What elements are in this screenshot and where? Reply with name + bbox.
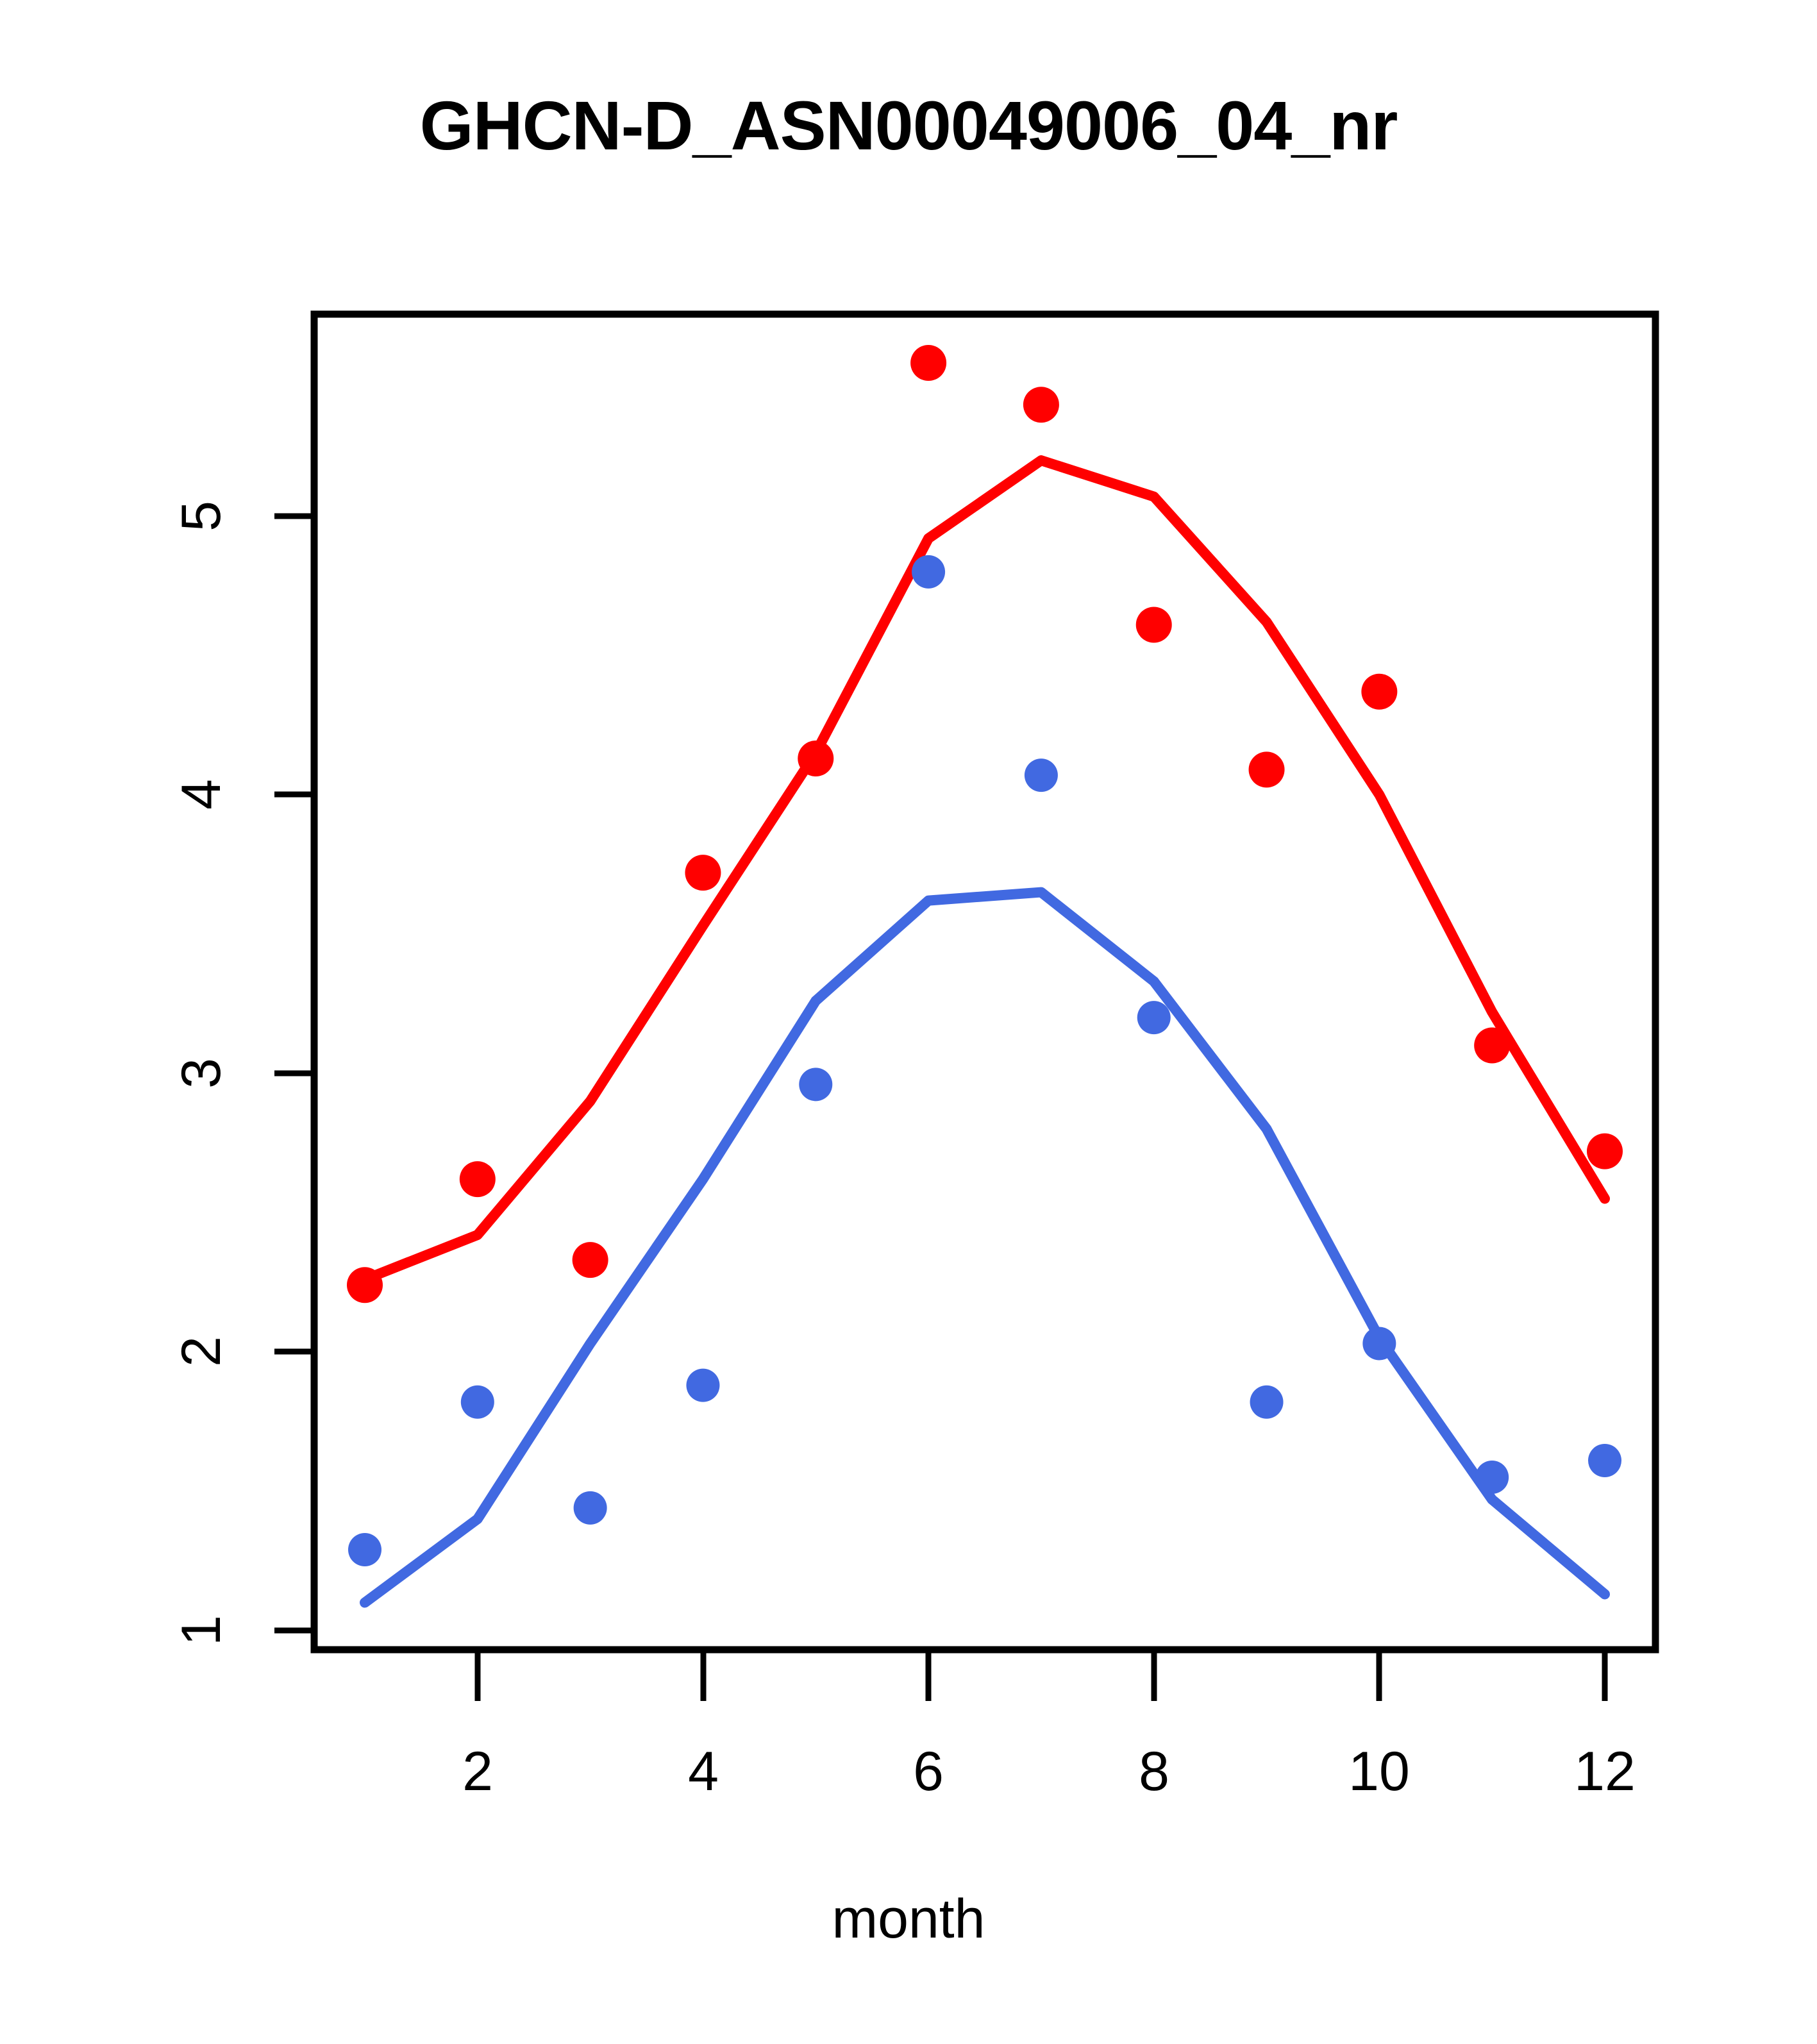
x-tick-label-8: 8 <box>1090 1744 1218 1799</box>
data-point <box>1587 1134 1623 1169</box>
x-tick-label-12: 12 <box>1541 1744 1669 1799</box>
data-point <box>348 1533 381 1566</box>
data-point <box>910 345 946 381</box>
data-point <box>347 1267 383 1303</box>
data-point <box>1250 1386 1284 1419</box>
data-point <box>1137 1001 1171 1034</box>
data-point <box>1249 751 1285 787</box>
data-point <box>799 1068 832 1101</box>
data-point <box>1588 1444 1621 1477</box>
x-tick-label-2: 2 <box>414 1744 542 1799</box>
data-point <box>912 555 945 589</box>
x-tick-label-10: 10 <box>1315 1744 1443 1799</box>
data-point <box>573 1242 608 1278</box>
y-tick-label-4: 4 <box>174 756 229 833</box>
data-point <box>1136 607 1172 642</box>
red-trend-line <box>365 460 1605 1279</box>
data-point <box>574 1491 607 1525</box>
y-tick-label-2: 2 <box>174 1313 229 1390</box>
x-tick-label-6: 6 <box>864 1744 992 1799</box>
data-point <box>1025 758 1058 792</box>
y-tick-label-1: 1 <box>174 1592 229 1669</box>
data-point <box>1474 1028 1510 1064</box>
x-tick-label-4: 4 <box>639 1744 767 1799</box>
x-axis-ticks <box>478 1650 1605 1701</box>
data-point <box>1362 1327 1396 1360</box>
y-tick-label-5: 5 <box>174 478 229 555</box>
blue-trend-line <box>365 892 1605 1603</box>
data-point <box>686 1369 719 1402</box>
data-point <box>1475 1461 1509 1494</box>
plot-area <box>0 0 1817 2044</box>
data-point <box>685 855 721 891</box>
y-axis-ticks <box>274 516 314 1630</box>
x-axis-label: month <box>0 1891 1817 1947</box>
data-point <box>798 741 833 776</box>
y-tick-label-3: 3 <box>174 1035 229 1112</box>
data-point <box>1361 674 1397 710</box>
data-point <box>460 1161 496 1197</box>
chart-figure: GHCN-D_ASN00049006_04_nr 1 2 3 <box>0 0 1817 2044</box>
data-point <box>461 1386 494 1419</box>
data-point <box>1023 387 1059 423</box>
